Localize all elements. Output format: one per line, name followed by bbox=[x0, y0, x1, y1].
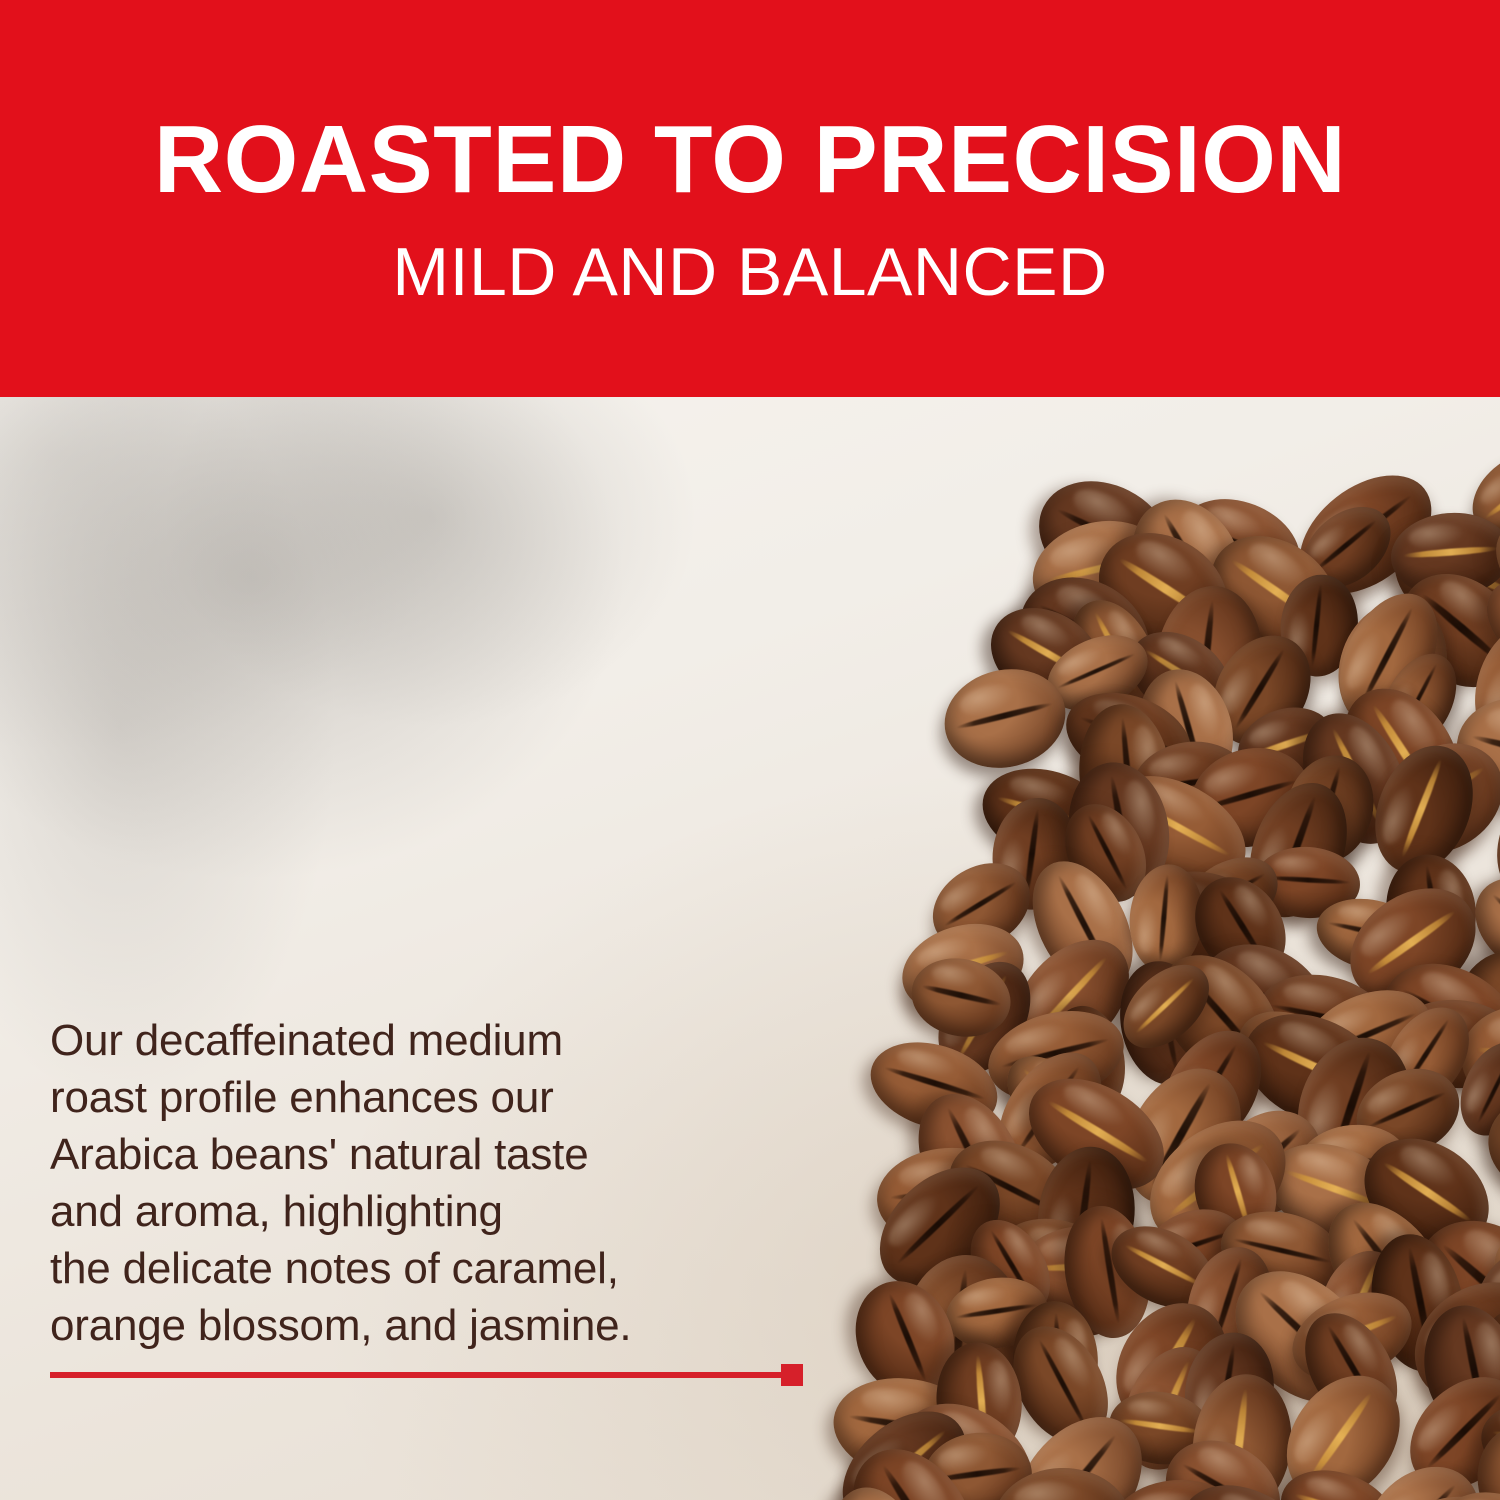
description-line: and aroma, highlighting bbox=[50, 1183, 730, 1240]
description-paragraph: Our decaffeinated medium roast profile e… bbox=[50, 1012, 730, 1354]
header-banner: ROASTED TO PRECISION MILD AND BALANCED bbox=[0, 0, 1500, 397]
product-feature-poster: ROASTED TO PRECISION MILD AND BALANCED O… bbox=[0, 0, 1500, 1500]
description-line: orange blossom, and jasmine. bbox=[50, 1297, 730, 1354]
description-line: Arabica beans' natural taste bbox=[50, 1126, 730, 1183]
coffee-bean-pile bbox=[790, 457, 1500, 1500]
page-subtitle: MILD AND BALANCED bbox=[0, 238, 1500, 306]
page-title: ROASTED TO PRECISION bbox=[0, 112, 1500, 208]
description-line: Our decaffeinated medium bbox=[50, 1012, 730, 1069]
divider-line bbox=[50, 1372, 785, 1378]
description-line: the delicate notes of caramel, bbox=[50, 1240, 730, 1297]
divider-end-cap bbox=[781, 1364, 803, 1386]
description-line: roast profile enhances our bbox=[50, 1069, 730, 1126]
divider-rule bbox=[50, 1364, 803, 1386]
